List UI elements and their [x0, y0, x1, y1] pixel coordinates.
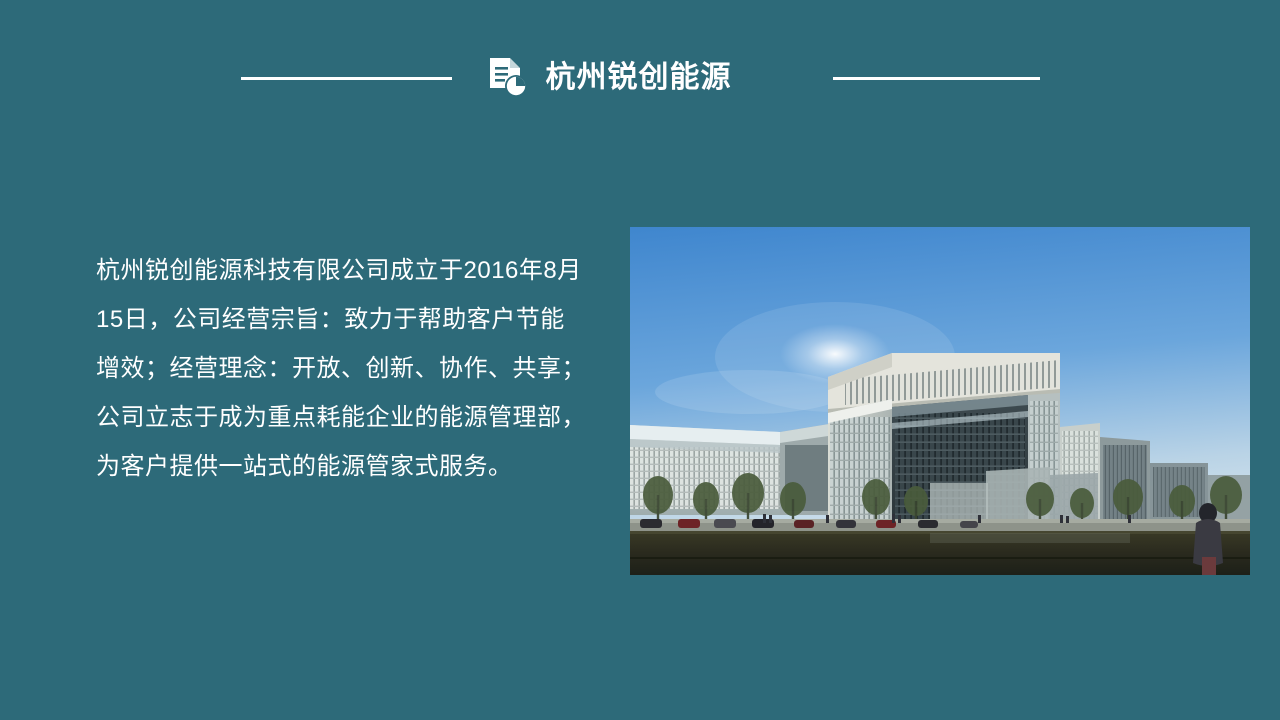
description-line: 杭州锐创能源科技有限公司成立于2016年8月: [96, 246, 596, 295]
slide: 杭州锐创能源 杭州锐创能源科技有限公司成立于2016年8月 15日，公司经营宗旨…: [0, 0, 1280, 720]
brand-lockup: 杭州锐创能源: [485, 55, 732, 101]
header-rule-right: [833, 77, 1040, 80]
slide-header: 杭州锐创能源: [0, 52, 1280, 104]
description-line: 为客户提供一站式的能源管家式服务。: [96, 442, 596, 491]
company-description: 杭州锐创能源科技有限公司成立于2016年8月 15日，公司经营宗旨：致力于帮助客…: [96, 246, 596, 491]
header-rule-left: [241, 77, 452, 80]
description-line: 15日，公司经营宗旨：致力于帮助客户节能: [96, 295, 596, 344]
description-line: 增效；经营理念：开放、创新、协作、共享；: [96, 344, 596, 393]
document-chart-icon: [485, 55, 531, 101]
description-line: 公司立志于成为重点耗能企业的能源管理部，: [96, 393, 596, 442]
office-building-image: [630, 227, 1250, 575]
page-title: 杭州锐创能源: [546, 63, 732, 93]
